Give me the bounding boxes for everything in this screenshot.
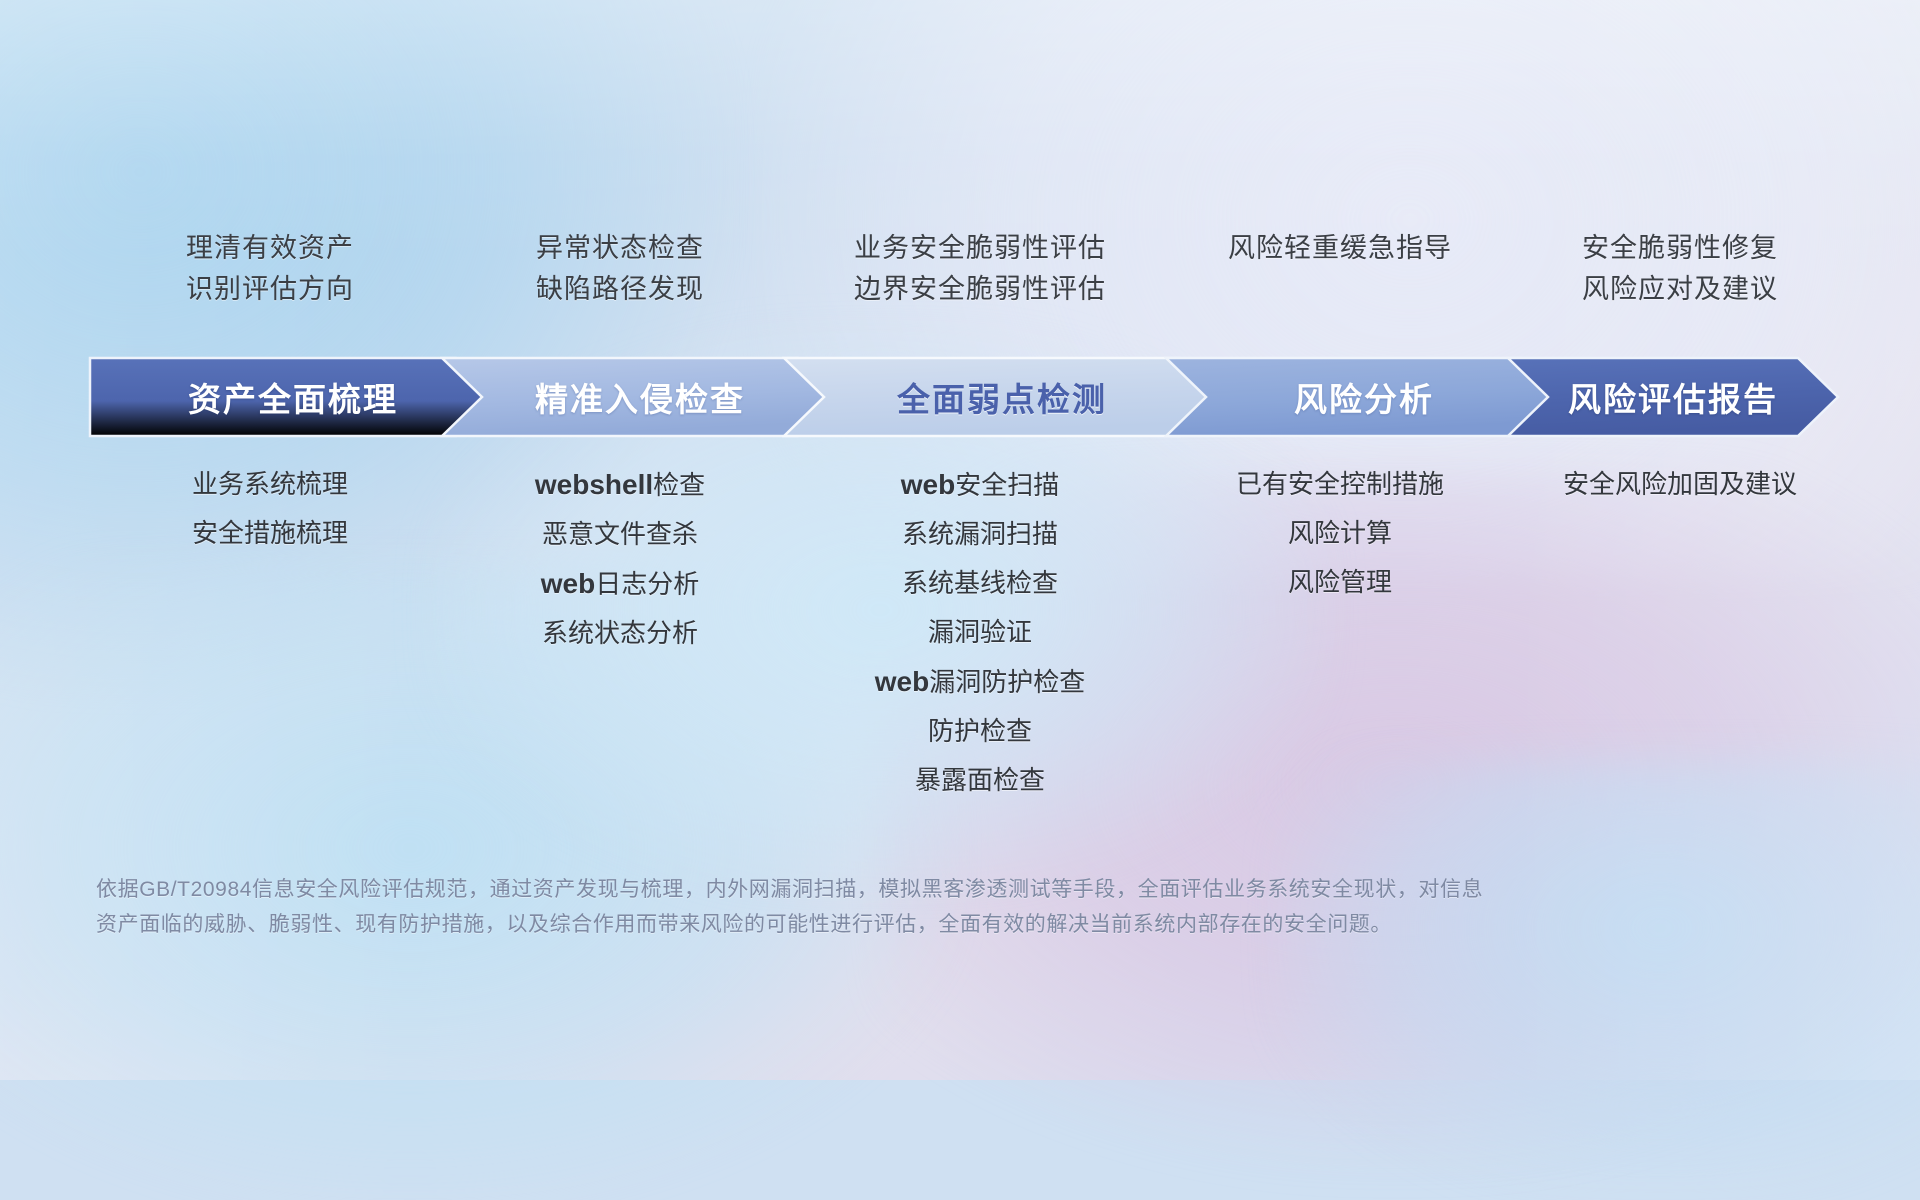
task-label: 安全扫描 xyxy=(955,470,1059,500)
task-label-latin: web xyxy=(901,469,955,500)
task-label: 日志分析 xyxy=(595,569,699,599)
stage-title: 精准入侵检查 xyxy=(535,373,745,421)
outcome-label: 异常状态检查 xyxy=(536,228,704,269)
task-label: 风险管理 xyxy=(1288,567,1392,597)
footer-description: 依据GB/T20984信息安全风险评估规范，通过资产发现与梳理，内外网漏洞扫描，… xyxy=(96,872,1656,942)
footer-line-2: 资产面临的威胁、脆弱性、现有防护措施，以及综合作用而带来风险的可能性进行评估，全… xyxy=(96,907,1656,942)
process-infographic: 理清有效资产 识别评估方向 异常状态检查 缺陷路径发现 业务安全脆弱性评估 边界… xyxy=(0,0,1920,1080)
outcome-label: 业务安全脆弱性评估 xyxy=(854,228,1106,269)
tasks-column-weakness-detection: web安全扫描 系统漏洞扫描 系统基线检查 漏洞验证 web漏洞防护检查 防护检… xyxy=(790,460,1170,805)
task-item: 业务系统梳理 xyxy=(192,460,348,509)
tasks-row: 业务系统梳理 安全措施梳理 webshell检查 恶意文件查杀 web日志分析 … xyxy=(90,460,1850,805)
task-label: 安全措施梳理 xyxy=(192,518,348,548)
tasks-column-intrusion-check: webshell检查 恶意文件查杀 web日志分析 系统状态分析 xyxy=(450,460,790,658)
outcome-label: 风险应对及建议 xyxy=(1582,269,1778,310)
task-label: 检查 xyxy=(653,470,705,500)
task-item: 系统基线检查 xyxy=(902,559,1058,608)
stage-chevron-risk-report[interactable]: 风险评估报告 xyxy=(1506,356,1840,438)
stage-title: 全面弱点检测 xyxy=(897,373,1107,421)
task-label-latin: web xyxy=(875,666,929,697)
stage-title: 资产全面梳理 xyxy=(188,373,398,421)
outcomes-row: 理清有效资产 识别评估方向 异常状态检查 缺陷路径发现 业务安全脆弱性评估 边界… xyxy=(90,228,1850,328)
tasks-column-asset-inventory: 业务系统梳理 安全措施梳理 xyxy=(90,460,450,558)
stage-chevron-banner: 资产全面梳理 精准入侵检查 xyxy=(88,356,1840,438)
task-item: web漏洞防护检查 xyxy=(875,657,1085,707)
outcomes-column-asset-inventory: 理清有效资产 识别评估方向 xyxy=(90,228,450,328)
tasks-column-risk-analysis: 已有安全控制措施 风险计算 风险管理 xyxy=(1170,460,1510,607)
footer-line-1: 依据GB/T20984信息安全风险评估规范，通过资产发现与梳理，内外网漏洞扫描，… xyxy=(96,872,1656,907)
task-item: 安全措施梳理 xyxy=(192,509,348,558)
task-label-latin: web xyxy=(541,568,595,599)
task-label: 恶意文件查杀 xyxy=(542,519,698,549)
task-label: 系统状态分析 xyxy=(542,618,698,648)
tasks-column-risk-report: 安全风险加固及建议 xyxy=(1510,460,1850,509)
task-item: web日志分析 xyxy=(541,559,699,609)
outcome-label: 识别评估方向 xyxy=(186,269,354,310)
task-label: 漏洞验证 xyxy=(928,617,1032,647)
outcome-label: 边界安全脆弱性评估 xyxy=(854,269,1106,310)
outcomes-column-intrusion-check: 异常状态检查 缺陷路径发现 xyxy=(450,228,790,328)
task-label: 安全风险加固及建议 xyxy=(1563,469,1797,499)
task-label: 已有安全控制措施 xyxy=(1236,469,1444,499)
task-item: 系统状态分析 xyxy=(542,609,698,658)
task-item: webshell检查 xyxy=(535,460,705,510)
outcomes-column-weakness-detection: 业务安全脆弱性评估 边界安全脆弱性评估 xyxy=(790,228,1170,328)
task-label: 漏洞防护检查 xyxy=(929,667,1085,697)
task-label: 系统基线检查 xyxy=(902,568,1058,598)
task-label: 业务系统梳理 xyxy=(192,469,348,499)
task-item: 安全风险加固及建议 xyxy=(1563,460,1797,509)
stage-chevron-risk-analysis[interactable]: 风险分析 xyxy=(1164,356,1564,438)
outcome-label: 缺陷路径发现 xyxy=(536,269,704,310)
outcomes-column-risk-report: 安全脆弱性修复 风险应对及建议 xyxy=(1510,228,1850,328)
task-item: 系统漏洞扫描 xyxy=(902,510,1058,559)
task-item: 风险管理 xyxy=(1288,558,1392,607)
stage-title: 风险评估报告 xyxy=(1568,373,1778,421)
outcomes-column-risk-analysis: 风险轻重缓急指导 xyxy=(1170,228,1510,328)
task-label: 防护检查 xyxy=(928,716,1032,746)
stage-chevron-asset-inventory[interactable]: 资产全面梳理 xyxy=(88,356,498,438)
task-item: 漏洞验证 xyxy=(928,608,1032,657)
task-item: 恶意文件查杀 xyxy=(542,510,698,559)
task-item: web安全扫描 xyxy=(901,460,1059,510)
task-label: 系统漏洞扫描 xyxy=(902,519,1058,549)
task-label: 风险计算 xyxy=(1288,518,1392,548)
task-item: 防护检查 xyxy=(928,707,1032,756)
stage-chevron-weakness-detection[interactable]: 全面弱点检测 xyxy=(782,356,1222,438)
outcome-label: 安全脆弱性修复 xyxy=(1582,228,1778,269)
task-label-latin: webshell xyxy=(535,469,653,500)
stage-chevron-intrusion-check[interactable]: 精准入侵检查 xyxy=(440,356,840,438)
stage-title: 风险分析 xyxy=(1294,373,1434,421)
task-label: 暴露面检查 xyxy=(915,765,1045,795)
task-item: 风险计算 xyxy=(1288,509,1392,558)
task-item: 暴露面检查 xyxy=(915,756,1045,805)
outcome-label: 风险轻重缓急指导 xyxy=(1228,228,1452,269)
outcome-label: 理清有效资产 xyxy=(186,228,354,269)
task-item: 已有安全控制措施 xyxy=(1236,460,1444,509)
